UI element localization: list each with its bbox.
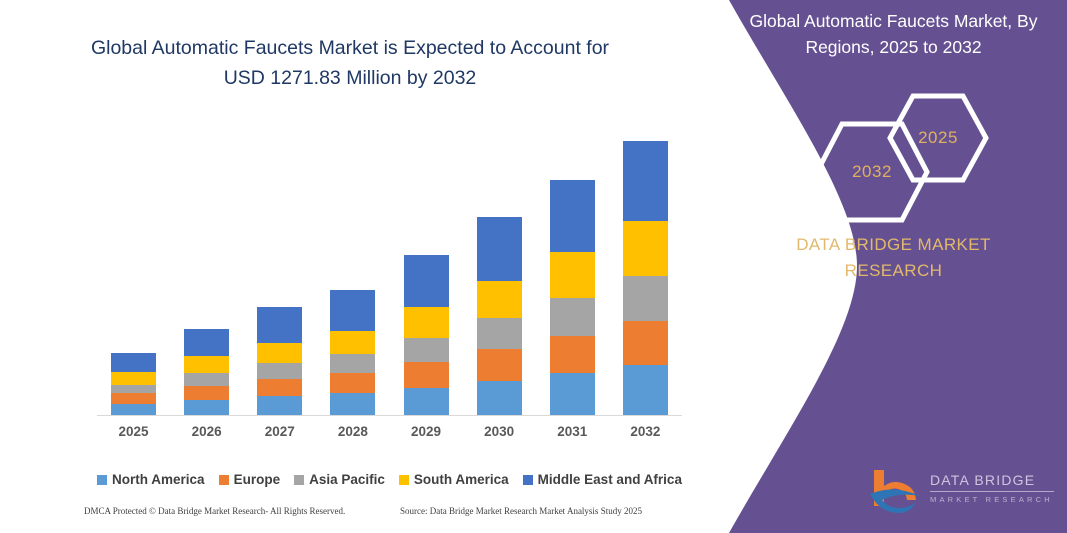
stacked-bar-2025 xyxy=(111,353,156,415)
x-axis-label: 2028 xyxy=(316,424,389,439)
bar-segment xyxy=(184,329,229,356)
bar-segment xyxy=(111,385,156,394)
hexagon-year-group: 2032 2025 xyxy=(812,92,992,207)
logo-subtitle-text: MARKET RESEARCH xyxy=(930,495,1058,505)
bar-column xyxy=(463,120,536,415)
bar-segment xyxy=(550,252,595,298)
bar-segment xyxy=(257,363,302,379)
bar-segment xyxy=(111,353,156,372)
legend-label: Europe xyxy=(234,472,281,487)
bar-column xyxy=(390,120,463,415)
bar-segment xyxy=(111,393,156,404)
bar-segment xyxy=(404,307,449,337)
logo-wordmark: DATA BRIDGE MARKET RESEARCH xyxy=(930,472,1058,505)
bar-segment xyxy=(111,372,156,385)
bar-segment xyxy=(477,349,522,380)
brand-name: DATA BRIDGE MARKET RESEARCH xyxy=(720,232,1067,284)
chart-title: Global Automatic Faucets Market is Expec… xyxy=(40,33,660,93)
infographic-page: Global Automatic Faucets Market is Expec… xyxy=(0,0,1067,533)
stacked-bar-2032 xyxy=(623,141,668,415)
brand-name-line-2: RESEARCH xyxy=(720,258,1067,284)
legend-swatch-icon xyxy=(523,475,533,485)
bar-segment xyxy=(330,393,375,415)
logo-name-text: DATA BRIDGE xyxy=(930,472,1058,488)
bar-segment xyxy=(257,379,302,397)
chart-title-line-2: USD 1271.83 Million by 2032 xyxy=(40,63,660,93)
brand-panel-title-line-2: Regions, 2025 to 2032 xyxy=(728,34,1059,60)
bar-segment xyxy=(330,373,375,394)
brand-panel-title-line-1: Global Automatic Faucets Market, By xyxy=(728,8,1059,34)
bar-segment xyxy=(330,331,375,354)
hexagon-start-year-label: 2025 xyxy=(886,92,990,184)
logo-mark-shape xyxy=(868,466,926,514)
stacked-bar-chart xyxy=(97,120,682,416)
stacked-bar-2027 xyxy=(257,307,302,415)
bar-segment xyxy=(477,381,522,415)
legend-label: Asia Pacific xyxy=(309,472,385,487)
chart-panel: Global Automatic Faucets Market is Expec… xyxy=(0,0,700,533)
stacked-bar-2030 xyxy=(477,217,522,415)
bar-segment xyxy=(623,365,668,415)
stacked-bar-2029 xyxy=(404,255,449,415)
bar-segment xyxy=(550,373,595,415)
x-axis-label: 2029 xyxy=(390,424,463,439)
bar-column xyxy=(316,120,389,415)
bar-column xyxy=(243,120,316,415)
footer: DMCA Protected © Data Bridge Market Rese… xyxy=(0,506,700,528)
bar-segment xyxy=(404,388,449,415)
legend-item[interactable]: Europe xyxy=(219,472,281,487)
legend-item[interactable]: Asia Pacific xyxy=(294,472,385,487)
x-axis-label: 2027 xyxy=(243,424,316,439)
x-axis-label: 2031 xyxy=(536,424,609,439)
x-axis-label: 2025 xyxy=(97,424,170,439)
legend-item[interactable]: Middle East and Africa xyxy=(523,472,682,487)
bar-segment xyxy=(477,217,522,281)
chart-title-line-1: Global Automatic Faucets Market is Expec… xyxy=(40,33,660,63)
bar-segment xyxy=(550,298,595,336)
logo-divider xyxy=(930,491,1054,492)
legend-label: South America xyxy=(414,472,509,487)
hexagon-start-year: 2025 xyxy=(886,92,990,184)
bar-segment xyxy=(404,362,449,387)
stacked-bar-2028 xyxy=(330,290,375,415)
bar-segment xyxy=(330,290,375,331)
bar-segment xyxy=(623,321,668,365)
chart-legend: North AmericaEuropeAsia PacificSouth Ame… xyxy=(97,472,682,487)
bar-segment xyxy=(257,307,302,342)
footer-source: Source: Data Bridge Market Research Mark… xyxy=(400,506,642,516)
bar-segment xyxy=(623,141,668,221)
brand-name-line-1: DATA BRIDGE MARKET xyxy=(720,232,1067,258)
bar-segment xyxy=(111,404,156,415)
x-axis-label: 2030 xyxy=(463,424,536,439)
bar-segment xyxy=(623,221,668,276)
company-logo: DATA BRIDGE MARKET RESEARCH xyxy=(868,466,1058,514)
legend-label: North America xyxy=(112,472,205,487)
brand-panel-content: Global Automatic Faucets Market, By Regi… xyxy=(720,0,1067,533)
legend-swatch-icon xyxy=(97,475,107,485)
bar-segment xyxy=(184,356,229,373)
bar-series-container xyxy=(97,120,682,415)
legend-label: Middle East and Africa xyxy=(538,472,682,487)
bar-segment xyxy=(257,396,302,415)
bar-segment xyxy=(477,318,522,349)
bar-segment xyxy=(184,386,229,401)
bar-segment xyxy=(404,255,449,307)
x-axis-line xyxy=(97,415,682,416)
bar-segment xyxy=(257,343,302,364)
legend-swatch-icon xyxy=(399,475,409,485)
legend-item[interactable]: North America xyxy=(97,472,205,487)
legend-swatch-icon xyxy=(219,475,229,485)
bar-column xyxy=(536,120,609,415)
stacked-bar-2026 xyxy=(184,329,229,415)
legend-item[interactable]: South America xyxy=(399,472,509,487)
brand-panel-title: Global Automatic Faucets Market, By Regi… xyxy=(720,8,1067,60)
bar-segment xyxy=(404,338,449,362)
legend-swatch-icon xyxy=(294,475,304,485)
bar-segment xyxy=(550,336,595,373)
bar-segment xyxy=(477,281,522,318)
bar-segment xyxy=(550,180,595,251)
x-axis-labels: 20252026202720282029203020312032 xyxy=(97,424,682,439)
bar-segment xyxy=(330,354,375,373)
stacked-bar-2031 xyxy=(550,180,595,415)
bar-segment xyxy=(623,276,668,321)
bar-column xyxy=(97,120,170,415)
footer-copyright: DMCA Protected © Data Bridge Market Rese… xyxy=(84,506,345,516)
bar-segment xyxy=(184,400,229,415)
bar-column xyxy=(170,120,243,415)
data-bridge-logo-icon xyxy=(868,466,926,514)
brand-panel: Global Automatic Faucets Market, By Regi… xyxy=(667,0,1067,533)
bar-segment xyxy=(184,373,229,386)
x-axis-label: 2026 xyxy=(170,424,243,439)
